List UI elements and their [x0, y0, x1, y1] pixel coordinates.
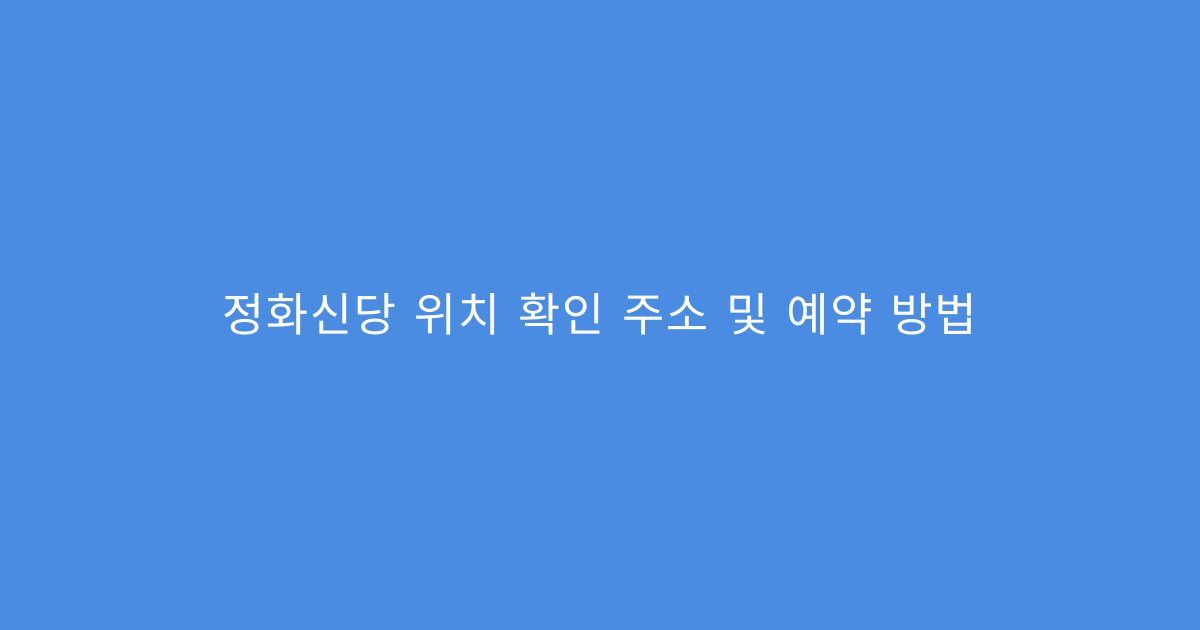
title-container: 정화신당 위치 확인 주소 및 예약 방법	[60, 284, 1140, 346]
og-title-card: 정화신당 위치 확인 주소 및 예약 방법	[0, 0, 1200, 630]
page-title: 정화신당 위치 확인 주소 및 예약 방법	[60, 284, 1140, 346]
